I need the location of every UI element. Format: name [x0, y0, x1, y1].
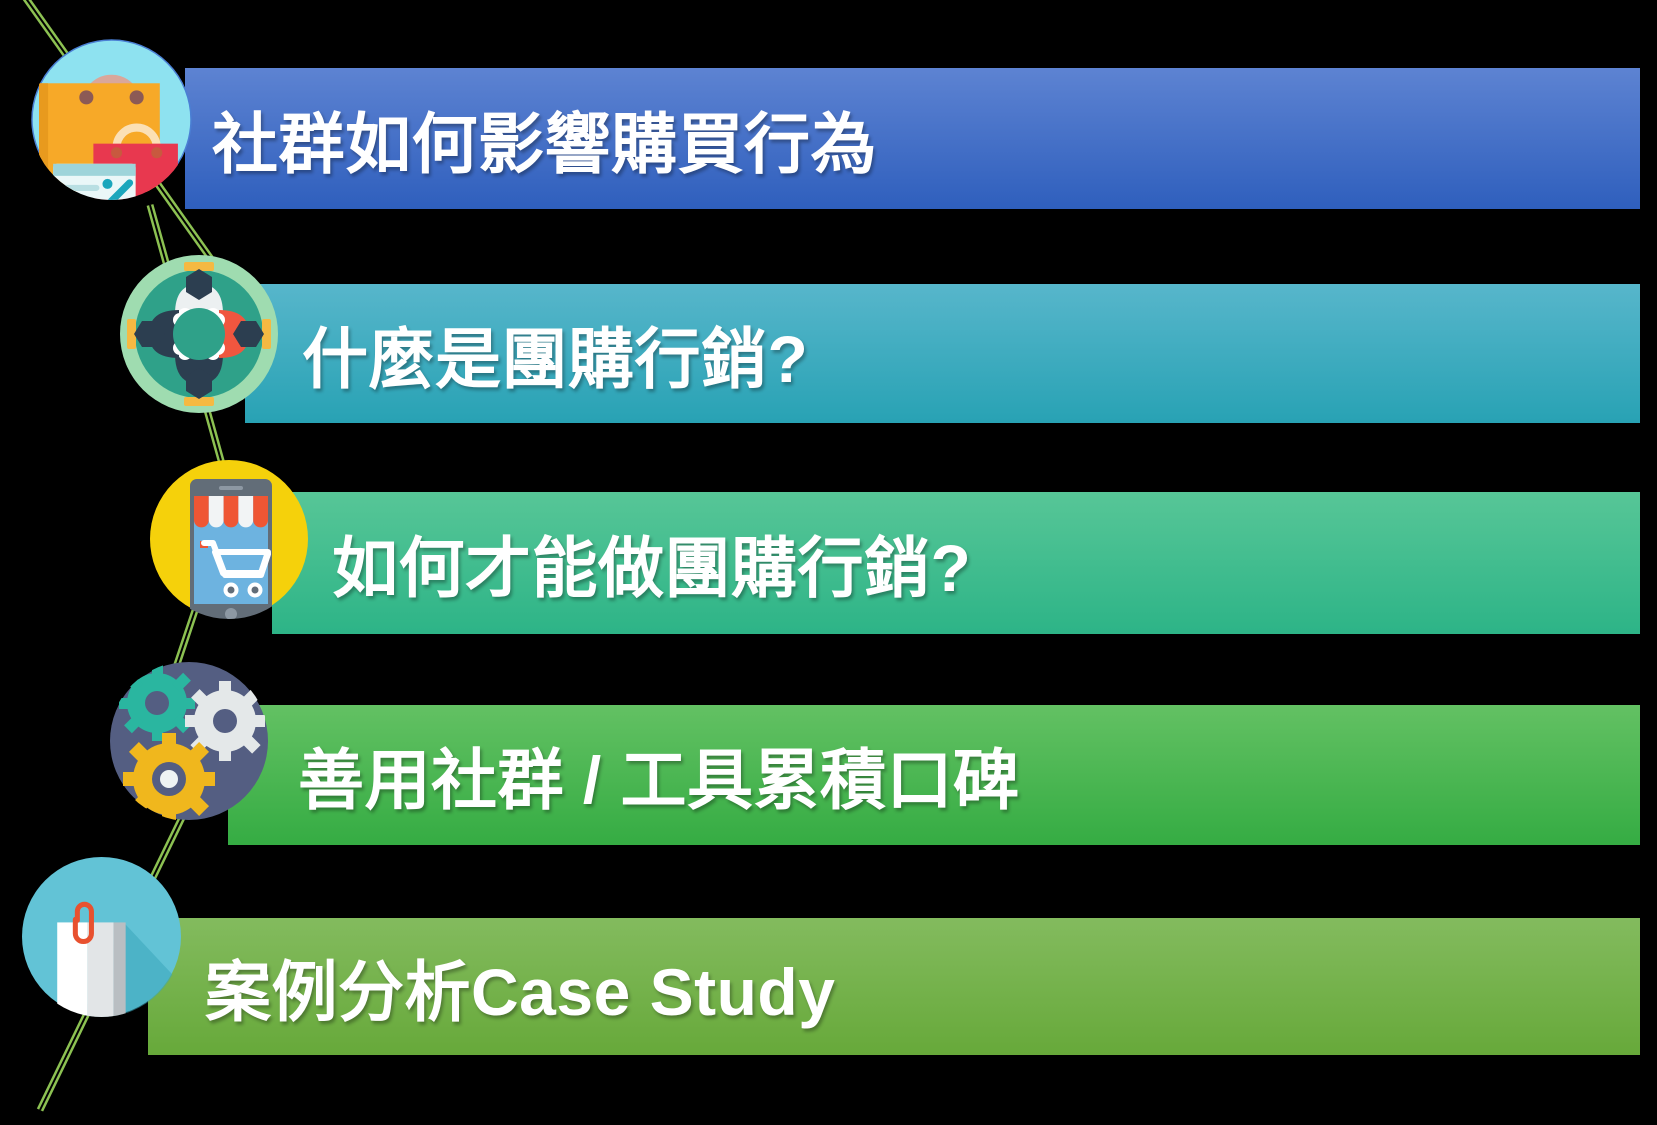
- slide-canvas: 社群如何影響購買行為 什麼是團購行銷? 如何才能做團購行銷? 善用社群 / 工具…: [0, 0, 1657, 1125]
- agenda-bar-4[interactable]: 善用社群 / 工具累積口碑: [228, 705, 1640, 845]
- agenda-bar-4-label: 善用社群 / 工具累積口碑: [228, 727, 1020, 823]
- agenda-bar-3[interactable]: 如何才能做團購行銷?: [272, 492, 1640, 634]
- agenda-bar-2[interactable]: 什麼是團購行銷?: [245, 284, 1640, 423]
- agenda-bar-3-label: 如何才能做團購行銷?: [272, 515, 971, 611]
- document-clip-icon: [21, 856, 182, 1017]
- agenda-bar-5-label: 案例分析Case Study: [148, 939, 835, 1035]
- shopping-bags-icon: [31, 39, 192, 200]
- agenda-bar-2-label: 什麼是團購行銷?: [245, 306, 808, 402]
- gears-icon: [109, 661, 269, 821]
- team-meeting-icon: [119, 254, 279, 414]
- agenda-bar-1[interactable]: 社群如何影響購買行為: [185, 68, 1640, 209]
- mobile-shop-cart-icon: [149, 459, 309, 619]
- agenda-bar-5[interactable]: 案例分析Case Study: [148, 918, 1640, 1055]
- agenda-bar-1-label: 社群如何影響購買行為: [185, 91, 877, 187]
